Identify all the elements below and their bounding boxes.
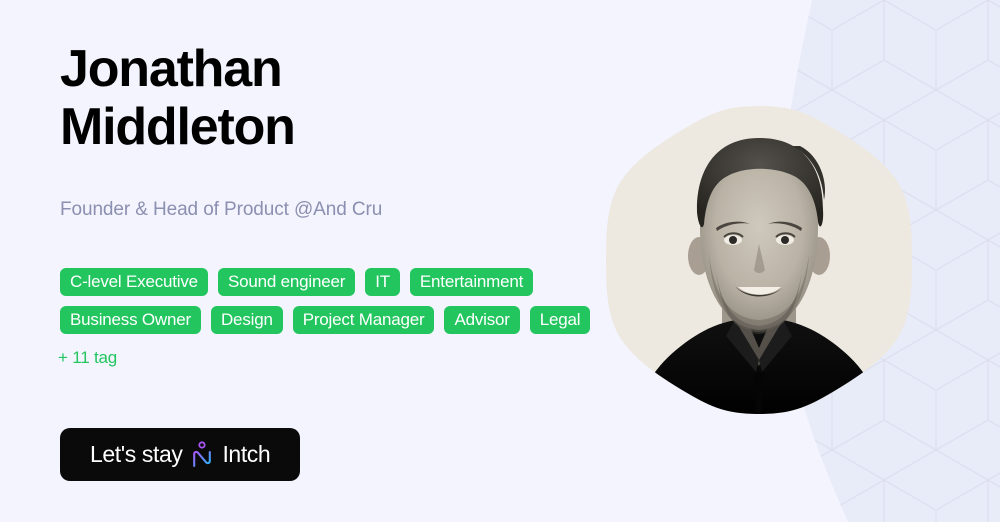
intch-n-logo-icon [191, 441, 213, 469]
cta-text-after: Intch [222, 443, 270, 466]
tag-chip[interactable]: Entertainment [410, 268, 533, 296]
tag-chip[interactable]: Business Owner [60, 306, 201, 334]
avatar-portrait [604, 104, 914, 416]
tag-chip[interactable]: IT [365, 268, 400, 296]
avatar [604, 104, 914, 416]
tag-chip[interactable]: Project Manager [293, 306, 435, 334]
cta-text-before: Let's stay [90, 443, 182, 466]
tag-chip[interactable]: Sound engineer [218, 268, 355, 296]
tag-chip[interactable]: Advisor [444, 306, 519, 334]
lets-stay-intch-button[interactable]: Let's stay Intch [60, 428, 300, 481]
tag-chip[interactable]: Design [211, 306, 283, 334]
profile-subtitle: Founder & Head of Product @And Cru [60, 197, 382, 223]
tag-chip[interactable]: Legal [530, 306, 591, 334]
tag-list: C-level Executive Sound engineer IT Ente… [60, 268, 600, 372]
more-tags-label[interactable]: + 11 tag [58, 344, 117, 372]
profile-card: Jonathan Middleton Founder & Head of Pro… [0, 0, 1000, 522]
page-title: Jonathan Middleton [60, 40, 580, 156]
tag-chip[interactable]: C-level Executive [60, 268, 208, 296]
profile-content: Jonathan Middleton Founder & Head of Pro… [60, 0, 600, 522]
